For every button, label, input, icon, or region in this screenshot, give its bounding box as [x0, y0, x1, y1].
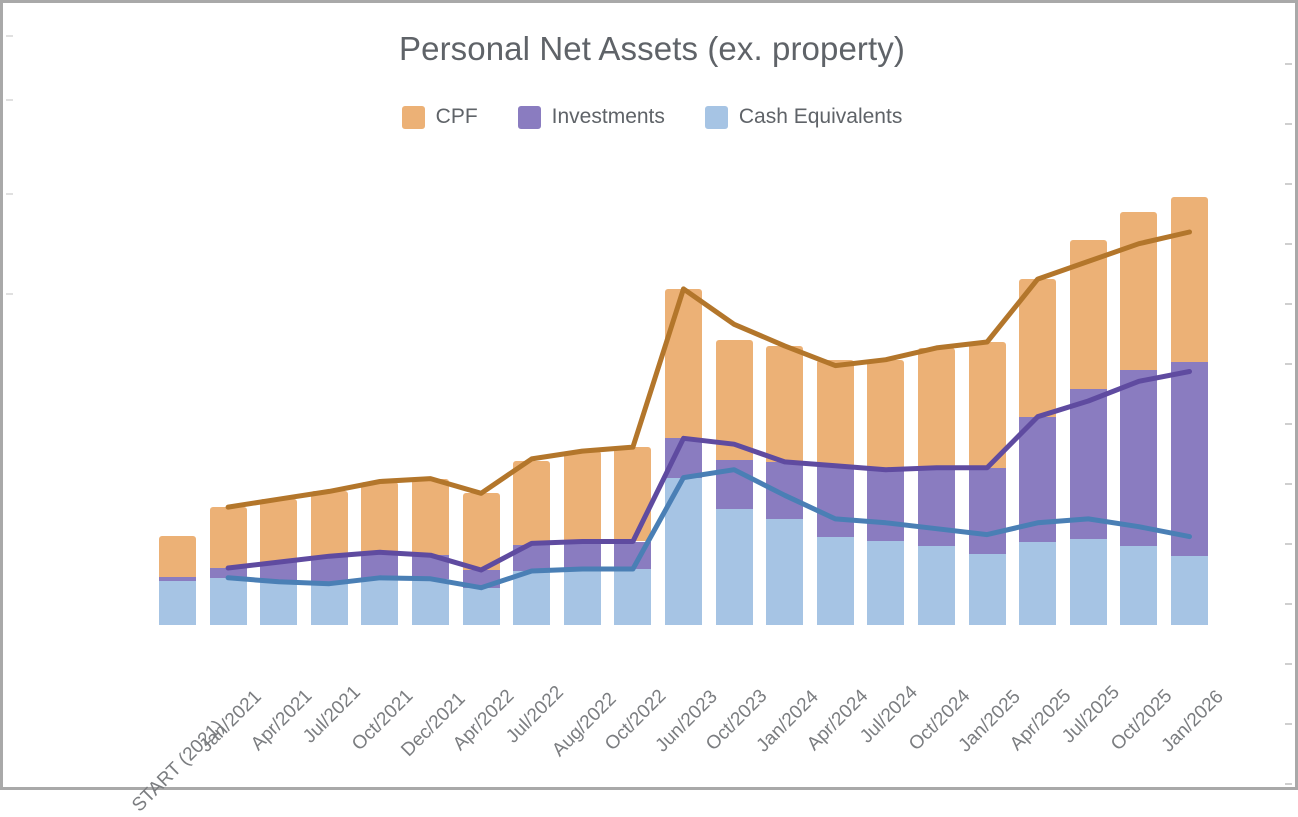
bar-segment-investments [159, 577, 196, 581]
legend-item-label: CPF [436, 105, 478, 129]
bar-segment-cpf [564, 451, 601, 541]
bar-segment-cpf [1019, 279, 1056, 417]
bar-segment-cpf [463, 493, 500, 570]
x-axis-tick: Oct/2025 [1139, 627, 1140, 628]
bar-segment-cash-equivalents [210, 578, 247, 625]
bar-segment-cpf [311, 491, 348, 556]
bar-segment-cash-equivalents [665, 478, 702, 625]
bar-segment-investments [817, 466, 854, 537]
bar-segment-cpf [614, 447, 651, 541]
bar-segment-investments [412, 555, 449, 579]
bar-segment-investments [463, 570, 500, 588]
bar-segment-cash-equivalents [463, 588, 500, 625]
legend-item-label: Cash Equivalents [739, 105, 902, 129]
bar-segment-cpf [817, 360, 854, 466]
legend-swatch-icon [705, 106, 728, 129]
chart-title: Personal Net Assets (ex. property) [3, 30, 1298, 68]
bar-segment-investments [564, 542, 601, 570]
bar-segment-cpf [665, 289, 702, 438]
bar-segment-cpf [1120, 212, 1157, 369]
x-axis-tick: Jul/2021 [329, 627, 330, 628]
bar-segment-cash-equivalents [564, 569, 601, 625]
x-axis-tick: Apr/2021 [279, 627, 280, 628]
bar-segment-investments [867, 470, 904, 541]
bar-segment-cpf [766, 346, 803, 462]
bar-segment-cash-equivalents [969, 554, 1006, 625]
x-axis-tick: Dec/2021 [431, 627, 432, 628]
bar-segment-cash-equivalents [311, 584, 348, 625]
bar-segment-investments [361, 552, 398, 578]
legend-swatch-icon [518, 106, 541, 129]
bar-segment-investments [766, 462, 803, 519]
bar-segment-cpf [361, 482, 398, 553]
bar-segment-cash-equivalents [412, 579, 449, 625]
x-axis-tick: Aug/2022 [582, 627, 583, 628]
bar-segment-investments [1171, 362, 1208, 557]
legend-item-cash-equivalents[interactable]: Cash Equivalents [705, 105, 902, 129]
chart-container: Personal Net Assets (ex. property) CPFIn… [0, 0, 1298, 790]
legend-item-cpf[interactable]: CPF [402, 105, 478, 129]
bar-segment-cpf [210, 507, 247, 568]
bar-segment-investments [1070, 389, 1107, 538]
x-axis-tick: Oct/2024 [937, 627, 938, 628]
bar-segment-cpf [716, 340, 753, 460]
x-axis-tick: Jan/2025 [987, 627, 988, 628]
bar-segment-investments [969, 468, 1006, 554]
x-axis-tick: Oct/2021 [380, 627, 381, 628]
bar-segment-cash-equivalents [766, 519, 803, 625]
bar-segment-investments [614, 542, 651, 570]
bar-segment-cash-equivalents [1019, 542, 1056, 625]
bar-segment-cpf [1070, 240, 1107, 389]
chart-legend: CPFInvestmentsCash Equivalents [3, 105, 1298, 129]
bar-segment-cpf [1171, 197, 1208, 362]
legend-item-label: Investments [552, 105, 665, 129]
plot-area [153, 173, 1265, 625]
bar-segment-cpf [260, 499, 297, 562]
bar-segment-investments [260, 562, 297, 582]
x-axis-tick: Oct/2022 [633, 627, 634, 628]
x-axis-tick: Jan/2026 [1190, 627, 1191, 628]
bar-segment-investments [210, 568, 247, 578]
legend-swatch-icon [402, 106, 425, 129]
bar-segment-cpf [159, 536, 196, 577]
bar-segment-cpf [969, 342, 1006, 468]
x-axis-tick: Jan/2021 [228, 627, 229, 628]
bar-segment-cash-equivalents [867, 541, 904, 626]
bar-segment-investments [665, 438, 702, 477]
bar-segment-cash-equivalents [614, 569, 651, 625]
bar-segment-cash-equivalents [1120, 546, 1157, 625]
x-axis-tick: Oct/2023 [734, 627, 735, 628]
x-axis-tick: START (2021) [178, 627, 179, 628]
bar-segment-cash-equivalents [817, 537, 854, 625]
bar-segment-cash-equivalents [1171, 556, 1208, 625]
x-axis-tick: Jul/2022 [532, 627, 533, 628]
bar-segment-cpf [867, 360, 904, 470]
bar-segment-cash-equivalents [513, 571, 550, 625]
bar-segment-cpf [513, 461, 550, 546]
x-axis-tick: Apr/2022 [481, 627, 482, 628]
x-axis-tick: Jun/2023 [684, 627, 685, 628]
x-axis-tick: Apr/2024 [835, 627, 836, 628]
bar-segment-investments [1019, 417, 1056, 543]
bar-segment-investments [513, 545, 550, 571]
x-axis-tick: Apr/2025 [1038, 627, 1039, 628]
bar-segment-investments [918, 468, 955, 547]
bar-segment-cash-equivalents [918, 546, 955, 625]
bar-segment-investments [716, 460, 753, 509]
x-axis-tick: Jan/2024 [785, 627, 786, 628]
x-axis-tick: Jul/2024 [886, 627, 887, 628]
bar-segment-cash-equivalents [716, 509, 753, 625]
bar-segment-cash-equivalents [1070, 539, 1107, 625]
bar-segment-cpf [918, 348, 955, 468]
bar-segment-cash-equivalents [159, 581, 196, 625]
bar-segment-cash-equivalents [361, 578, 398, 625]
x-axis-tick: Jul/2025 [1088, 627, 1089, 628]
bar-segment-cash-equivalents [260, 582, 297, 625]
bar-segment-investments [311, 556, 348, 584]
bar-segment-investments [1120, 370, 1157, 547]
x-axis-labels: START (2021)Jan/2021Apr/2021Jul/2021Oct/… [153, 627, 1265, 787]
legend-item-investments[interactable]: Investments [518, 105, 665, 129]
bar-segment-cpf [412, 479, 449, 556]
